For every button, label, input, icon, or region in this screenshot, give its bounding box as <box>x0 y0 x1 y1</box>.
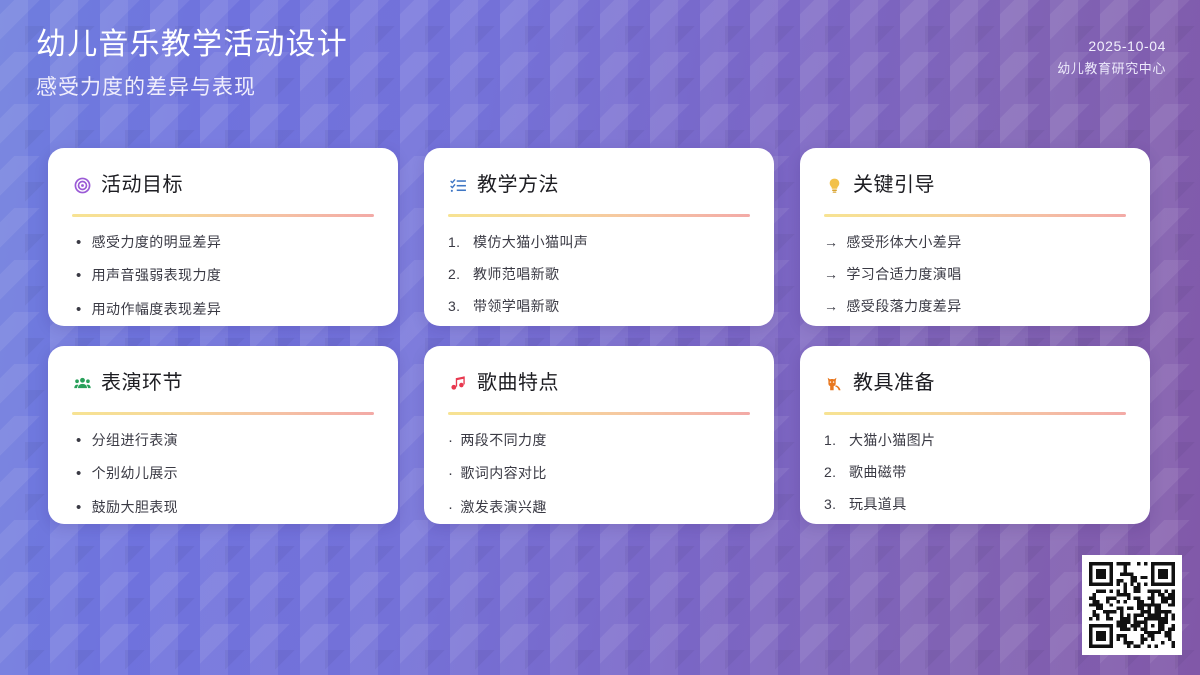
list-item-text: 用动作幅度表现差异 <box>92 300 374 319</box>
info-card[interactable]: 活动目标•感受力度的明显差异•用声音强弱表现力度•用动作幅度表现差异 <box>48 148 398 326</box>
list-item-text: 学习合适力度演唱 <box>846 265 1126 284</box>
list-item-text: 大猫小猫图片 <box>849 431 1126 450</box>
page-title: 幼儿音乐教学活动设计 <box>36 26 348 64</box>
list-item-text: 带领学唱新歌 <box>473 297 750 316</box>
list-item-marker: · <box>448 498 453 518</box>
list-item: 1.大猫小猫图片 <box>824 431 1126 450</box>
qr-code[interactable] <box>1082 555 1182 655</box>
list-item: 3.玩具道具 <box>824 495 1126 514</box>
list-item-marker: • <box>76 498 82 518</box>
slide-header: 幼儿音乐教学活动设计 感受力度的差异与表现 2025-10-04 幼儿教育研究中… <box>0 0 1200 130</box>
list-item: •鼓励大胆表现 <box>72 498 374 518</box>
list-item: •用动作幅度表现差异 <box>72 300 374 320</box>
card-header: 教学方法 <box>448 170 750 200</box>
checklist-icon <box>448 177 468 194</box>
card-item-list: 1.大猫小猫图片2.歌曲磁带3.玩具道具 <box>824 431 1126 514</box>
list-item-marker: • <box>76 464 82 484</box>
lightbulb-icon <box>824 177 844 194</box>
music-note-icon <box>448 375 468 392</box>
card-divider <box>824 412 1126 415</box>
list-item-text: 玩具道具 <box>849 495 1126 514</box>
list-item-marker: · <box>448 464 453 484</box>
list-item-text: 歌曲磁带 <box>849 463 1126 482</box>
list-item-marker: • <box>76 266 82 286</box>
card-header: 表演环节 <box>72 368 374 398</box>
card-grid: 活动目标•感受力度的明显差异•用声音强弱表现力度•用动作幅度表现差异教学方法1.… <box>48 148 1152 524</box>
qr-code-canvas <box>1089 562 1175 648</box>
list-item: ·歌词内容对比 <box>448 464 750 484</box>
list-item-text: 两段不同力度 <box>460 431 750 450</box>
date-label: 2025-10-04 <box>1057 36 1166 57</box>
list-item: •个别幼儿展示 <box>72 464 374 484</box>
list-item-marker: 2. <box>448 265 465 284</box>
list-item-text: 感受力度的明显差异 <box>92 233 374 252</box>
list-item: •感受力度的明显差异 <box>72 233 374 253</box>
card-item-list: →感受形体大小差异→学习合适力度演唱→感受段落力度差异 <box>824 233 1126 316</box>
info-card[interactable]: 教学方法1.模仿大猫小猫叫声2.教师范唱新歌3.带领学唱新歌 <box>424 148 774 326</box>
slide-canvas: 幼儿音乐教学活动设计 感受力度的差异与表现 2025-10-04 幼儿教育研究中… <box>0 0 1200 675</box>
card-item-list: •感受力度的明显差异•用声音强弱表现力度•用动作幅度表现差异 <box>72 233 374 320</box>
target-icon <box>72 177 92 194</box>
list-item-marker: 2. <box>824 463 841 482</box>
card-title: 教学方法 <box>477 174 559 196</box>
list-item: 1.模仿大猫小猫叫声 <box>448 233 750 252</box>
list-item-text: 歌词内容对比 <box>460 464 750 483</box>
card-item-list: 1.模仿大猫小猫叫声2.教师范唱新歌3.带领学唱新歌 <box>448 233 750 316</box>
card-header: 歌曲特点 <box>448 368 750 398</box>
card-title: 表演环节 <box>101 372 183 394</box>
header-titles: 幼儿音乐教学活动设计 感受力度的差异与表现 <box>34 26 348 101</box>
list-item-marker: • <box>76 431 82 451</box>
list-item: →感受段落力度差异 <box>824 297 1126 316</box>
cat-icon <box>824 375 844 392</box>
list-item-marker: → <box>824 233 838 252</box>
list-item: •分组进行表演 <box>72 431 374 451</box>
list-item-text: 激发表演兴趣 <box>460 498 750 517</box>
header-meta: 2025-10-04 幼儿教育研究中心 <box>1057 26 1166 80</box>
card-item-list: •分组进行表演•个别幼儿展示•鼓励大胆表现 <box>72 431 374 518</box>
list-item: •用声音强弱表现力度 <box>72 266 374 286</box>
card-divider <box>72 214 374 217</box>
list-item-marker: 1. <box>448 233 465 252</box>
list-item: 3.带领学唱新歌 <box>448 297 750 316</box>
list-item-marker: → <box>824 297 838 316</box>
info-card[interactable]: 歌曲特点·两段不同力度·歌词内容对比·激发表演兴趣 <box>424 346 774 524</box>
list-item-text: 教师范唱新歌 <box>473 265 750 284</box>
card-item-list: ·两段不同力度·歌词内容对比·激发表演兴趣 <box>448 431 750 518</box>
list-item-text: 感受形体大小差异 <box>846 233 1126 252</box>
info-card[interactable]: 教具准备1.大猫小猫图片2.歌曲磁带3.玩具道具 <box>800 346 1150 524</box>
card-divider <box>72 412 374 415</box>
list-item-marker: · <box>448 431 453 451</box>
list-item: ·激发表演兴趣 <box>448 498 750 518</box>
list-item-text: 感受段落力度差异 <box>846 297 1126 316</box>
organization-label: 幼儿教育研究中心 <box>1057 59 1166 80</box>
page-subtitle: 感受力度的差异与表现 <box>36 74 348 101</box>
list-item-marker: 1. <box>824 431 841 450</box>
card-title: 关键引导 <box>853 174 935 196</box>
list-item: 2.教师范唱新歌 <box>448 265 750 284</box>
list-item-marker: 3. <box>824 495 841 514</box>
card-divider <box>824 214 1126 217</box>
list-item: 2.歌曲磁带 <box>824 463 1126 482</box>
list-item-text: 分组进行表演 <box>92 431 374 450</box>
card-header: 关键引导 <box>824 170 1126 200</box>
list-item: →感受形体大小差异 <box>824 233 1126 252</box>
list-item-marker: 3. <box>448 297 465 316</box>
card-header: 活动目标 <box>72 170 374 200</box>
card-header: 教具准备 <box>824 368 1126 398</box>
info-card[interactable]: 关键引导→感受形体大小差异→学习合适力度演唱→感受段落力度差异 <box>800 148 1150 326</box>
card-title: 教具准备 <box>853 372 935 394</box>
list-item-text: 模仿大猫小猫叫声 <box>473 233 750 252</box>
list-item-text: 鼓励大胆表现 <box>92 498 374 517</box>
card-title: 歌曲特点 <box>477 372 559 394</box>
card-divider <box>448 214 750 217</box>
list-item-marker: • <box>76 300 82 320</box>
list-item-text: 个别幼儿展示 <box>92 464 374 483</box>
people-group-icon <box>72 375 92 392</box>
list-item-text: 用声音强弱表现力度 <box>92 266 374 285</box>
info-card[interactable]: 表演环节•分组进行表演•个别幼儿展示•鼓励大胆表现 <box>48 346 398 524</box>
card-title: 活动目标 <box>101 174 183 196</box>
list-item-marker: • <box>76 233 82 253</box>
card-divider <box>448 412 750 415</box>
list-item-marker: → <box>824 265 838 284</box>
list-item: ·两段不同力度 <box>448 431 750 451</box>
list-item: →学习合适力度演唱 <box>824 265 1126 284</box>
